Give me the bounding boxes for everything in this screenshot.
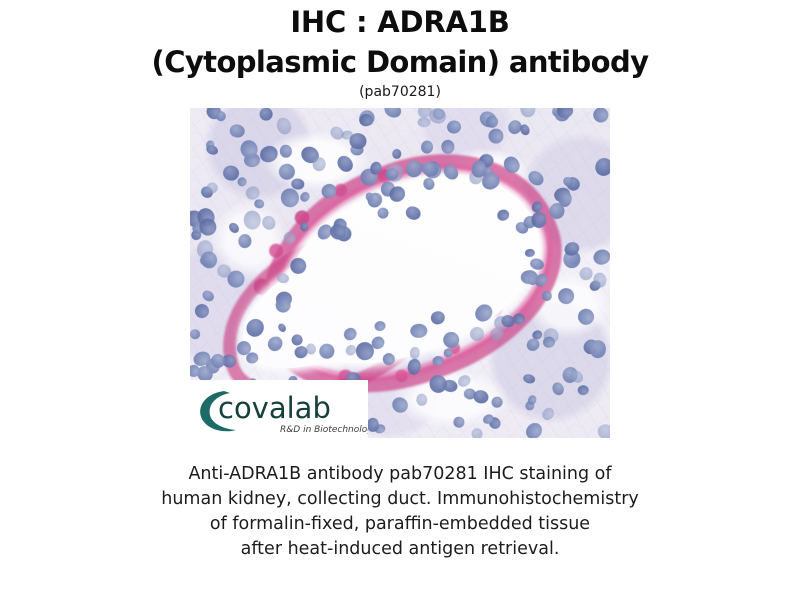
nucleus (403, 204, 421, 222)
nucleus (377, 207, 389, 219)
caption-line-3: of formalin-fixed, paraffin-embedded tis… (80, 512, 720, 537)
figure-caption: Anti-ADRA1B antibody pab70281 IHC staini… (80, 462, 720, 562)
nucleus (525, 249, 535, 258)
page-title-line-2: (Cytoplasmic Domain) antibody (20, 42, 780, 82)
nucleus (574, 306, 596, 328)
nucleus (283, 231, 298, 246)
logo-tagline: R&D in Biotechnology (280, 425, 368, 435)
nucleus (243, 316, 267, 341)
nucleus (317, 341, 336, 360)
nucleus (392, 149, 402, 159)
nucleus (591, 108, 610, 126)
nucleus (431, 356, 443, 367)
nucleus (501, 154, 522, 176)
nucleus (427, 373, 449, 395)
nucleus (518, 108, 536, 118)
title-block: IHC : ADRA1B (Cytoplasmic Domain) antibo… (20, 0, 780, 101)
nucleus (589, 340, 607, 359)
nucleus (540, 405, 557, 422)
nucleus (258, 143, 281, 165)
nucleus (243, 211, 261, 230)
nucleus (420, 140, 433, 154)
nucleus (260, 108, 273, 121)
nucleus (381, 351, 398, 368)
nucleus (286, 255, 308, 277)
nucleus (456, 373, 473, 390)
nucleus (192, 302, 211, 321)
nucleus (229, 123, 246, 138)
nucleus (260, 213, 278, 232)
nucleus (519, 123, 532, 137)
nucleus (279, 187, 301, 209)
nucleus (453, 416, 464, 427)
nucleus (238, 234, 252, 249)
caption-line-4: after heat-induced antigen retrieval. (80, 537, 720, 562)
nucleus (495, 208, 511, 223)
nucleus (389, 395, 411, 417)
nucleus (542, 335, 556, 349)
nucleus (526, 168, 546, 188)
caption-line-2: human kidney, collecting duct. Immunohis… (80, 487, 720, 512)
covalab-logo: covalab R&D in Biotechnology (190, 380, 368, 438)
nucleus (275, 116, 295, 137)
nucleus (382, 108, 403, 120)
nucleus (556, 286, 576, 306)
nucleus (205, 143, 219, 156)
nucleus (429, 310, 446, 326)
nucleus (312, 157, 326, 171)
nucleus (442, 331, 460, 349)
nucleus (374, 320, 387, 332)
nucleus (300, 222, 309, 231)
caption-line-1: Anti-ADRA1B antibody pab70281 IHC staini… (80, 462, 720, 487)
nucleus (441, 140, 454, 154)
logo-wordmark: covalab (218, 391, 331, 425)
micrograph-figure: covalab R&D in Biotechnology (190, 108, 610, 438)
nucleus (446, 119, 462, 134)
nucleus (252, 198, 264, 210)
nucleus (227, 221, 241, 235)
nucleus (417, 117, 430, 127)
nucleus (531, 211, 547, 228)
nucleus (486, 125, 507, 146)
nucleus (442, 348, 453, 359)
nucleus (276, 272, 290, 284)
nucleus (490, 395, 505, 410)
nucleus (334, 153, 356, 175)
nucleus (550, 380, 566, 397)
nucleus (341, 325, 359, 343)
nucleus (280, 144, 293, 158)
nucleus (416, 393, 428, 406)
nucleus (522, 373, 536, 385)
nucleus (411, 324, 428, 338)
nucleus (592, 155, 610, 178)
nucleus (190, 329, 200, 339)
nucleus (422, 177, 437, 193)
covalab-logo-svg: covalab R&D in Biotechnology (190, 380, 368, 438)
nucleus (522, 419, 545, 438)
nucleus (410, 346, 421, 359)
nucleus (542, 290, 553, 301)
nucleus (369, 160, 383, 175)
nucleus (265, 333, 286, 354)
ihc-figure-page: IHC : ADRA1B (Cytoplasmic Domain) antibo… (0, 0, 800, 600)
page-title-line-1: IHC : ADRA1B (20, 2, 780, 42)
nucleus (277, 322, 288, 334)
nucleus (469, 326, 484, 341)
nucleus (299, 191, 312, 204)
nucleus (291, 178, 305, 190)
nucleus (471, 427, 483, 438)
nucleus (367, 417, 379, 432)
nucleus (513, 313, 526, 325)
nucleus (593, 272, 606, 287)
catalog-number: (pab70281) (20, 83, 780, 101)
nucleus (406, 358, 422, 376)
nucleus (595, 422, 610, 438)
nucleus (236, 176, 249, 188)
nucleus (577, 385, 588, 395)
nucleus (441, 161, 461, 181)
nucleus (473, 302, 497, 326)
nucleus (200, 288, 216, 303)
nucleus (319, 181, 339, 201)
nucleus (472, 388, 490, 405)
nucleus (592, 247, 610, 266)
